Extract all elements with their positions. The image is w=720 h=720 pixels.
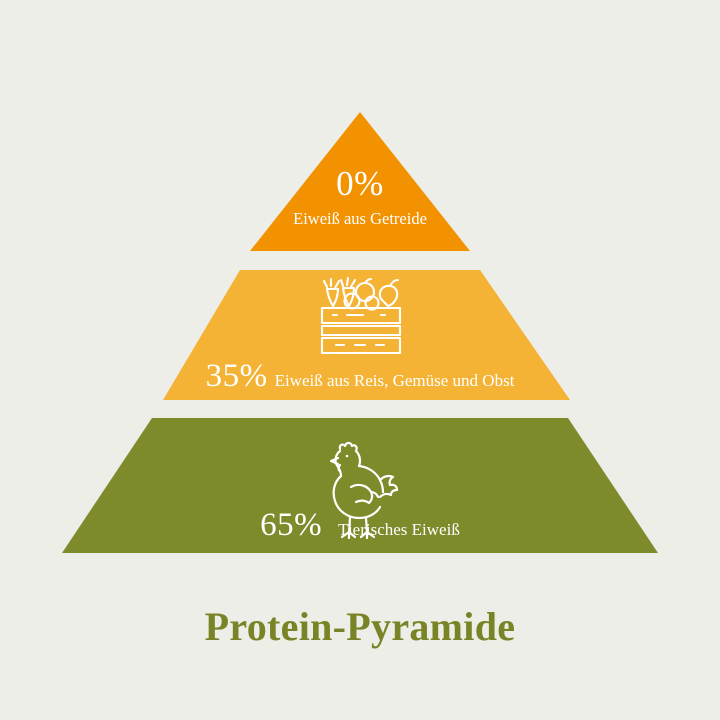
protein-pyramid-infographic: 0% Eiweiß aus Getreide 35% Eiweiß aus Re… <box>0 0 720 720</box>
pyramid-tier-grain <box>250 112 470 251</box>
page-title: Protein-Pyramide <box>0 603 720 650</box>
